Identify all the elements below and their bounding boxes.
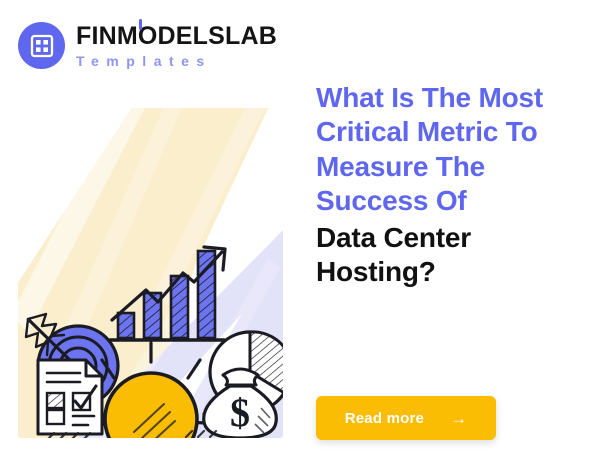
- pin-accent-icon: [139, 19, 142, 30]
- page-title: What Is The Most Critical Metric To Meas…: [316, 81, 578, 290]
- read-more-label: Read more: [345, 410, 424, 427]
- business-analytics-illustration: $: [18, 108, 283, 438]
- arrow-right-icon: →: [450, 410, 467, 427]
- read-more-button[interactable]: Read more →: [316, 396, 496, 440]
- grid-squares-icon: [18, 22, 65, 69]
- headline-topic: Data Center Hosting?: [316, 221, 578, 290]
- brand-text: FINMODELSLAB Templates: [76, 24, 277, 68]
- brand-subtitle: Templates: [76, 54, 277, 68]
- brand-logo[interactable]: FINMODELSLAB Templates: [18, 22, 277, 69]
- brand-name: FINMODELSLAB: [76, 24, 277, 49]
- article-promo-card: FINMODELSLAB Templates: [0, 0, 600, 464]
- headline-lead: What Is The Most Critical Metric To Meas…: [316, 82, 543, 216]
- svg-text:$: $: [230, 390, 250, 435]
